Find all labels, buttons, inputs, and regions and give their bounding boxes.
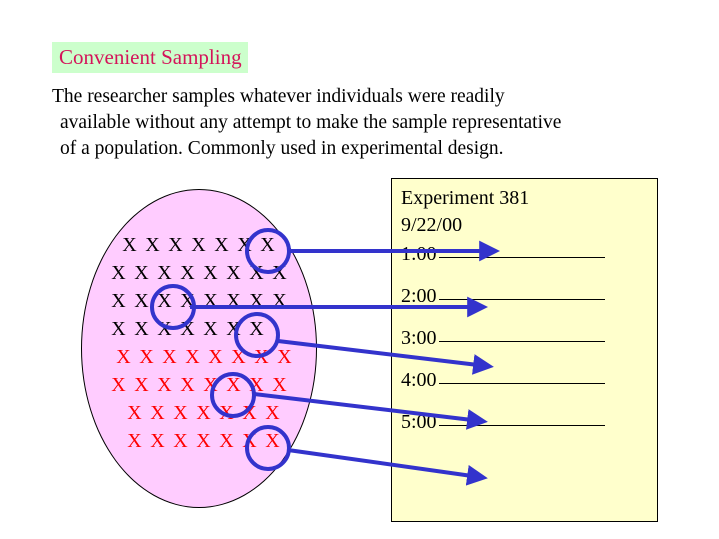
time-slot-1[interactable]: 1:00 <box>401 243 651 266</box>
time-slot-5-rule[interactable] <box>439 425 605 426</box>
experiment-notes-card: Experiment 381 9/22/00 1:00 2:00 3:00 4:… <box>391 178 658 522</box>
population-member: X <box>199 319 222 339</box>
population-member: X <box>199 291 222 311</box>
population-member: X <box>153 375 176 395</box>
time-slot-4-label: 4:00 <box>401 369 437 392</box>
selected-member-circle-1[interactable] <box>245 228 291 274</box>
population-member: X <box>187 235 210 255</box>
population-member: X <box>130 319 153 339</box>
population-member: X <box>245 291 268 311</box>
time-slot-3-rule[interactable] <box>439 341 605 342</box>
population-member: X <box>268 291 291 311</box>
population-member: X <box>192 403 215 423</box>
population-member: X <box>130 263 153 283</box>
body-line-1: The researcher samples whatever individu… <box>52 84 712 110</box>
population-member: X <box>107 263 130 283</box>
time-slot-2[interactable]: 2:00 <box>401 285 651 308</box>
selected-member-circle-5[interactable] <box>245 425 291 471</box>
time-slot-4-rule[interactable] <box>439 383 605 384</box>
population-member: X <box>210 235 233 255</box>
population-member: X <box>204 347 227 367</box>
population-member: X <box>169 431 192 451</box>
time-slot-5-label: 5:00 <box>401 411 437 434</box>
body-paragraph: The researcher samples whatever individu… <box>52 84 712 162</box>
population-member: X <box>107 375 130 395</box>
population-member: X <box>176 375 199 395</box>
population-member: X <box>153 263 176 283</box>
population-member: X <box>261 403 284 423</box>
page-title-text: Convenient Sampling <box>52 42 248 73</box>
population-member: X <box>268 375 291 395</box>
population-member: X <box>112 347 135 367</box>
time-slot-2-label: 2:00 <box>401 285 437 308</box>
population-member: X <box>215 431 238 451</box>
population-member: X <box>135 347 158 367</box>
population-member: X <box>176 263 199 283</box>
selected-member-circle-2[interactable] <box>150 284 196 330</box>
selected-member-circle-4[interactable] <box>210 372 256 418</box>
population-member: X <box>199 263 222 283</box>
population-member: X <box>273 347 296 367</box>
experiment-date: 9/22/00 <box>401 212 651 239</box>
population-member: X <box>164 235 187 255</box>
time-slot-2-rule[interactable] <box>439 299 605 300</box>
time-slot-3[interactable]: 3:00 <box>401 327 651 350</box>
population-row-6: XXXXXXXX <box>107 375 291 395</box>
population-member: X <box>107 291 130 311</box>
selected-member-circle-3[interactable] <box>234 312 280 358</box>
time-slot-4[interactable]: 4:00 <box>401 369 651 392</box>
population-member: X <box>169 403 192 423</box>
population-member: X <box>130 375 153 395</box>
body-line-2: available without any attempt to make th… <box>52 110 712 136</box>
population-member: X <box>222 263 245 283</box>
population-member: X <box>158 347 181 367</box>
time-slot-1-rule[interactable] <box>439 257 605 258</box>
population-member: X <box>141 235 164 255</box>
population-row-3: XXXXXXXX <box>107 291 291 311</box>
population-member: X <box>192 431 215 451</box>
population-member: X <box>123 431 146 451</box>
time-slot-1-label: 1:00 <box>401 243 437 266</box>
population-member: X <box>222 291 245 311</box>
population-member: X <box>146 431 169 451</box>
population-member: X <box>146 403 169 423</box>
population-row-7: XXXXXXX <box>123 403 284 423</box>
population-member: X <box>181 347 204 367</box>
page-title: Convenient Sampling <box>52 42 248 73</box>
time-slot-5[interactable]: 5:00 <box>401 411 651 434</box>
body-line-3: of a population. Commonly used in experi… <box>52 136 712 162</box>
slide-canvas: Convenient Sampling The researcher sampl… <box>0 0 719 539</box>
population-member: X <box>123 403 146 423</box>
time-slot-3-label: 3:00 <box>401 327 437 350</box>
experiment-title: Experiment 381 <box>401 185 651 212</box>
population-member: X <box>107 319 130 339</box>
population-member: X <box>118 235 141 255</box>
